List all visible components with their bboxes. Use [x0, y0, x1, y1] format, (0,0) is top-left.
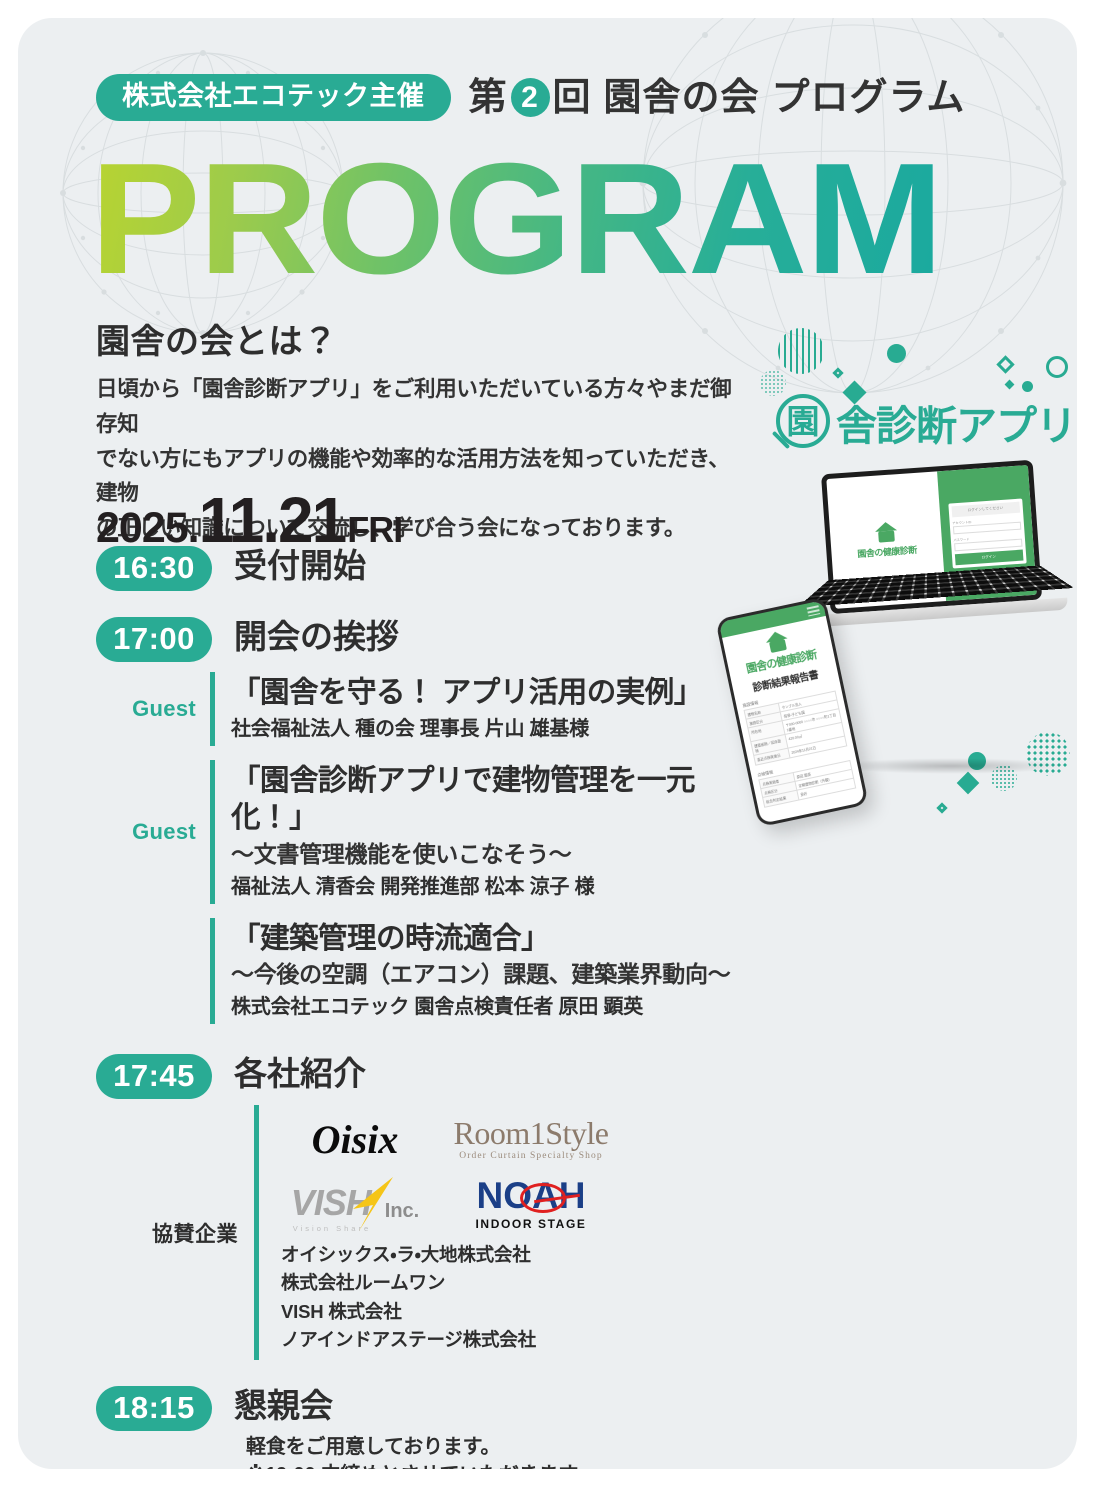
time-badge-1815: 18:15	[96, 1386, 212, 1431]
oisix-logo: Oisix	[281, 1111, 429, 1167]
schedule-list: 16:30 受付開始 17:00 開会の挨拶 Guest 「園舎を守る！ アプリ…	[96, 546, 756, 1469]
session-title-2: 「園舎診断アプリで建物管理を一元化！」	[231, 763, 756, 837]
host-pill: 株式会社エコテック主催	[96, 74, 451, 121]
header-row: 株式会社エコテック主催 第 2 回 園舎の会 プログラム	[96, 74, 965, 121]
slot-title-1700: 開会の挨拶	[234, 617, 399, 656]
session-subtitle-3: 〜今後の空調（エアコン）課題、建築業界動向〜	[231, 960, 756, 990]
session-body-2: 「園舎診断アプリで建物管理を一元化！」 〜文書管理機能を使いこなそう〜 福祉法人…	[210, 760, 756, 904]
login-card: ログインしてください アカウントID パスワード ログイン	[948, 498, 1026, 568]
laptop-login-panel: ログインしてください アカウントID パスワード ログイン	[937, 465, 1037, 601]
guest-label-1: Guest	[114, 696, 210, 722]
program-wordmark: PROGRAM	[90, 140, 942, 298]
date-month-day: 11.21	[199, 488, 346, 552]
sponsor-row: 協賛企業 Oisix Room1Style Order Curtain Spec…	[114, 1105, 756, 1359]
deco-dot-mid	[1022, 381, 1033, 392]
login-submit-button[interactable]: ログイン	[954, 549, 1023, 565]
deco-diamond-ring	[832, 367, 843, 378]
title-prefix: 第	[469, 79, 508, 117]
slot-title-1630: 受付開始	[234, 546, 366, 585]
poster-canvas: 株式会社エコテック主催 第 2 回 園舎の会 プログラム PROGRAM 園舎の…	[18, 18, 1077, 1469]
time-badge-1630: 16:30	[96, 546, 212, 591]
session-row-1: Guest 「園舎を守る！ アプリ活用の実例」 社会福祉法人 種の会 理事長 片…	[114, 672, 756, 746]
vish-arrow-icon	[349, 1175, 395, 1233]
deco-dot-large	[887, 344, 906, 363]
date-year: 2025.	[96, 507, 199, 550]
company-name-3: VISH 株式会社	[281, 1298, 756, 1326]
title-event: 園舎の会	[604, 79, 760, 117]
schedule-slot-1815: 18:15 懇親会	[96, 1386, 756, 1431]
device-mockup: 園舎の健康診断 ログインしてください アカウントID パスワード ログイン	[718, 458, 1077, 858]
slot-title-1815: 懇親会	[234, 1386, 333, 1425]
slot-title-1745: 各社紹介	[234, 1054, 366, 1093]
time-badge-1700: 17:00	[96, 617, 212, 662]
login-heading: ログインしてください	[951, 501, 1020, 517]
oisix-logo-text: Oisix	[312, 1116, 399, 1163]
time-badge-1745: 17:45	[96, 1054, 212, 1099]
session-row-3: 「建築管理の時流適合」 〜今後の空調（エアコン）課題、建築業界動向〜 株式会社エ…	[114, 918, 756, 1025]
sponsor-label: 協賛企業	[114, 1218, 254, 1248]
vish-logo: VISH Vision Share Inc.	[281, 1175, 429, 1231]
sponsor-body: Oisix Room1Style Order Curtain Specialty…	[254, 1105, 756, 1359]
title-tail: プログラム	[772, 79, 966, 117]
event-date: 2025. 11.21 FRI	[96, 488, 402, 552]
sponsor-logo-grid: Oisix Room1Style Order Curtain Specialty…	[281, 1111, 756, 1231]
session-speaker-2: 福祉法人 清香会 開発推進部 松本 涼子 様	[231, 874, 756, 901]
about-title: 園舎の会とは？	[96, 314, 746, 363]
note-line-2: ※19:00 中締めとさせていただきます。	[246, 1461, 756, 1469]
room1style-logo-text: Room1Style	[453, 1117, 608, 1149]
house-icon-phone	[764, 630, 790, 654]
deco-stripe-circle	[778, 328, 824, 374]
slot-note-1815: 軽食をご用意しております。 ※19:00 中締めとさせていただきます。 （途中退…	[246, 1433, 756, 1469]
company-name-1: オイシックス・ラ・大地株式会社	[281, 1241, 756, 1269]
deco-halftone-small	[760, 370, 786, 396]
session-speaker-1: 社会福祉法人 種の会 理事長 片山 雄基様	[231, 716, 756, 743]
session-speaker-3: 株式会社エコテック 園舎点検責任者 原田 顕英	[231, 994, 756, 1021]
hamburger-menu-icon[interactable]	[807, 605, 821, 616]
session-subtitle-2: 〜文書管理機能を使いこなそう〜	[231, 840, 756, 870]
app-logo: 園 舎診断アプリ	[774, 394, 1076, 458]
magnifier-icon: 園	[774, 394, 834, 458]
deco-diamond-tiny	[1005, 380, 1015, 390]
note-line-1: 軽食をご用意しております。	[246, 1433, 756, 1461]
deco-diamond-ring-2	[996, 355, 1014, 373]
laptop-mockup: 園舎の健康診断 ログインしてください アカウントID パスワード ログイン	[821, 458, 1068, 626]
room1style-logo: Room1Style Order Curtain Specialty Shop	[447, 1111, 615, 1167]
session-title-1: 「園舎を守る！ アプリ活用の実例」	[231, 675, 756, 712]
session-row-2: Guest 「園舎診断アプリで建物管理を一元化！」 〜文書管理機能を使いこなそう…	[114, 760, 756, 904]
laptop-brand-text: 園舎の健康診断	[857, 543, 917, 560]
deco-ring	[1046, 356, 1068, 378]
session-body-3: 「建築管理の時流適合」 〜今後の空調（エアコン）課題、建築業界動向〜 株式会社エ…	[210, 918, 756, 1025]
noah-logo: NOAH INDOOR STAGE	[447, 1175, 615, 1231]
device-shadow	[836, 758, 1066, 774]
schedule-slot-1630: 16:30 受付開始	[96, 546, 756, 591]
company-name-2: 株式会社ルームワン	[281, 1269, 756, 1297]
app-logo-text: 舎診断アプリ	[836, 406, 1076, 447]
company-name-4: ノアインドアステージ株式会社	[281, 1326, 756, 1354]
about-line-1: 日頃から「園舎診断アプリ」をご利用いただいている方々やまだ御存知	[96, 372, 746, 442]
room1style-tagline: Order Curtain Specialty Shop	[453, 1152, 608, 1162]
page-title: 第 2 回 園舎の会 プログラム	[469, 78, 966, 117]
guest-label-2: Guest	[114, 819, 210, 845]
title-suffix: 回	[553, 79, 592, 117]
house-icon	[874, 521, 897, 542]
sponsor-company-list: オイシックス・ラ・大地株式会社 株式会社ルームワン VISH 株式会社 ノアイン…	[281, 1241, 756, 1353]
session-title-3: 「建築管理の時流適合」	[231, 921, 756, 958]
date-day-of-week: FRI	[347, 512, 402, 548]
session-body-1: 「園舎を守る！ アプリ活用の実例」 社会福祉法人 種の会 理事長 片山 雄基様	[210, 672, 756, 746]
schedule-slot-1745: 17:45 各社紹介	[96, 1054, 756, 1099]
poster-root: 株式会社エコテック主催 第 2 回 園舎の会 プログラム PROGRAM 園舎の…	[0, 0, 1095, 1487]
edition-number-badge: 2	[511, 78, 550, 117]
noah-tagline: INDOOR STAGE	[476, 1218, 587, 1230]
schedule-slot-1700: 17:00 開会の挨拶	[96, 617, 756, 662]
